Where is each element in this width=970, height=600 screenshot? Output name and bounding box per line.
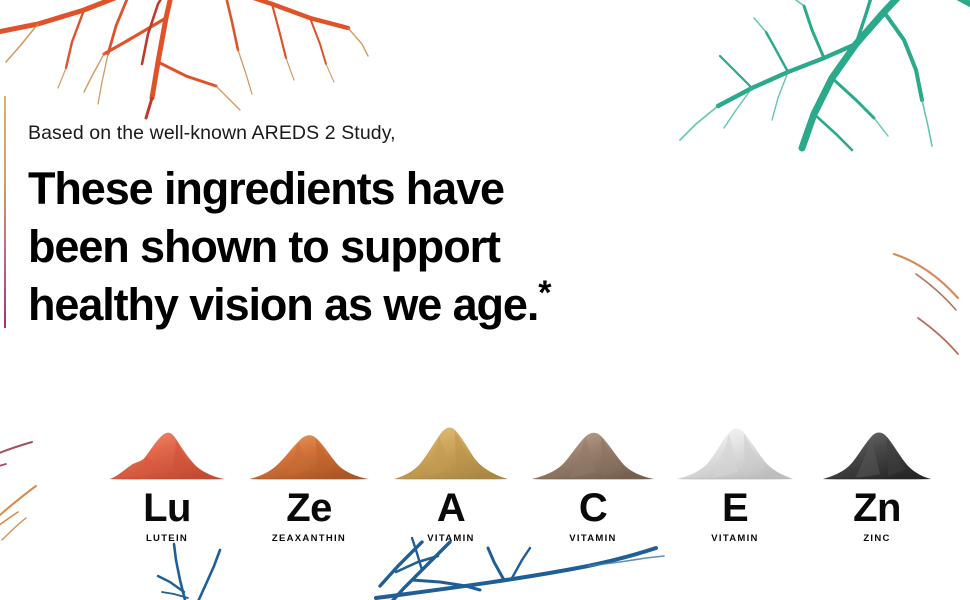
- eyebrow-text: Based on the well-known AREDS 2 Study,: [28, 120, 668, 146]
- ingredient-name: ZEAXANTHIN: [272, 533, 346, 545]
- ingredient-item-lutein: Lu LUTEIN: [96, 418, 238, 545]
- powder-pile-vitamin-c-icon: [528, 418, 658, 480]
- ingredient-name: VITAMIN: [711, 533, 758, 545]
- ingredient-list: Lu LUTEIN: [96, 418, 948, 545]
- footnote-asterisk: *: [538, 274, 551, 312]
- left-edge-gradient-rule: [4, 96, 6, 328]
- ingredient-name: ZINC: [863, 533, 890, 545]
- ingredient-name: VITAMIN: [569, 533, 616, 545]
- powder-pile-zeaxanthin-icon: [244, 418, 374, 480]
- ingredient-item-vitamin-a: A VITAMIN: [380, 418, 522, 545]
- ingredient-symbol: C: [579, 486, 607, 530]
- ingredient-item-vitamin-c: C VITAMIN: [522, 418, 664, 545]
- vessel-wisp-right-icon: [884, 236, 970, 356]
- ingredient-item-zinc: Zn ZINC: [806, 418, 948, 545]
- copy-block: Based on the well-known AREDS 2 Study, T…: [28, 120, 668, 334]
- vessel-branch-bottom-center-icon: [150, 536, 480, 600]
- ingredient-name: LUTEIN: [146, 533, 188, 545]
- ingredient-symbol: Ze: [286, 486, 331, 530]
- vessel-branch-top-left-icon: [0, 0, 370, 122]
- vessel-branch-bottom-blue-icon: [376, 540, 666, 600]
- powder-pile-zinc-icon: [812, 418, 942, 480]
- powder-pile-lutein-icon: [102, 418, 232, 480]
- page-title: These ingredients have been shown to sup…: [28, 160, 668, 334]
- powder-pile-vitamin-a-icon: [386, 418, 516, 480]
- headline-text: These ingredients have been shown to sup…: [28, 163, 538, 330]
- ingredient-item-zeaxanthin: Ze ZEAXANTHIN: [238, 418, 380, 545]
- ingredient-symbol: Zn: [853, 486, 901, 530]
- ingredient-item-vitamin-e: E VITAMIN: [664, 418, 806, 545]
- ingredient-symbol: E: [722, 486, 748, 530]
- vessel-branch-top-right-icon: [660, 0, 970, 166]
- ingredient-name: VITAMIN: [427, 533, 474, 545]
- powder-pile-vitamin-e-icon: [670, 418, 800, 480]
- promo-banner: Based on the well-known AREDS 2 Study, T…: [0, 0, 970, 600]
- ingredient-symbol: A: [437, 486, 465, 530]
- ingredient-symbol: Lu: [143, 486, 191, 530]
